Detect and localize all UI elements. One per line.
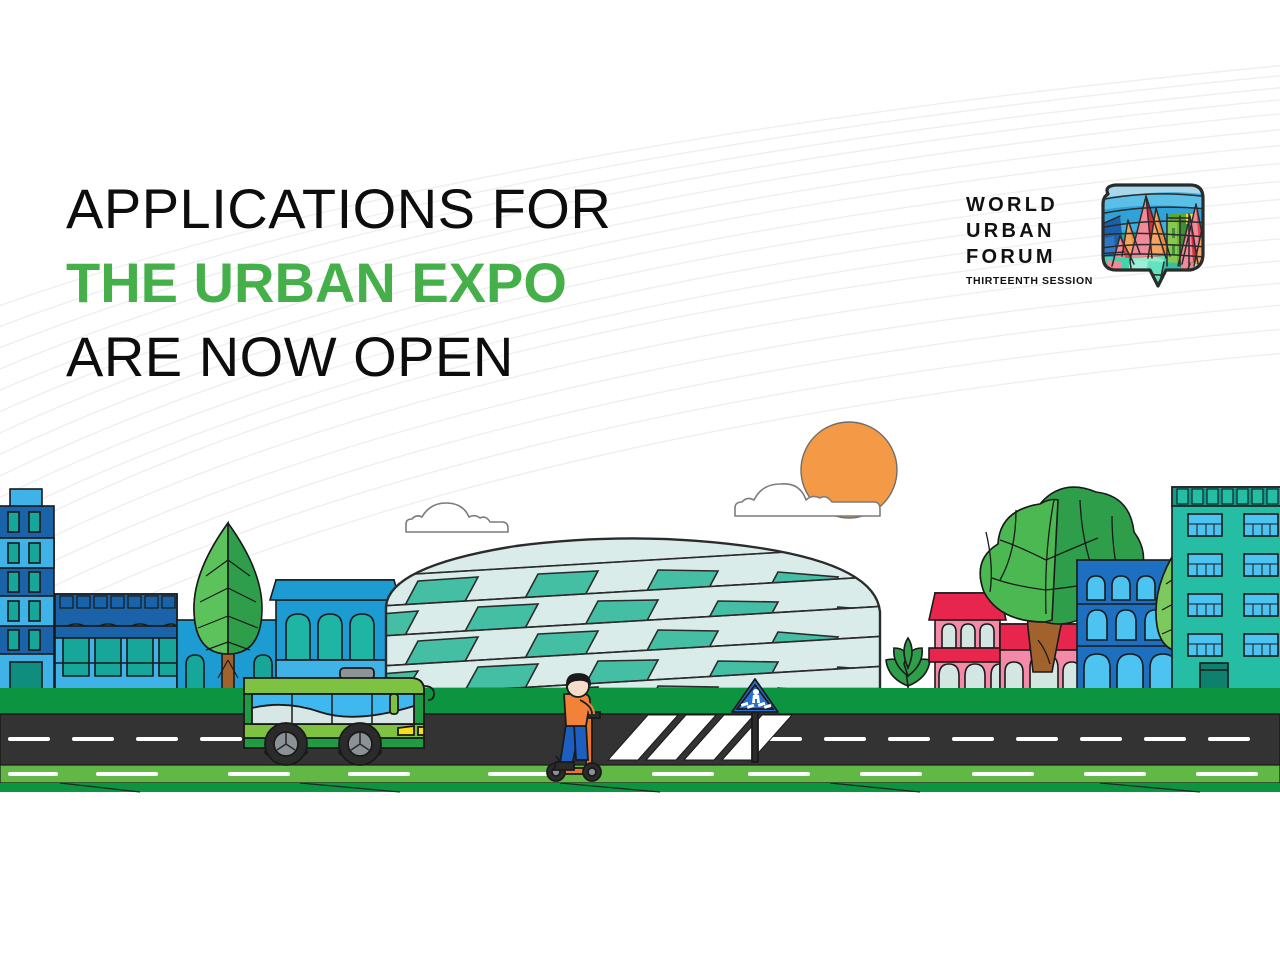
grass-strip-top (0, 688, 1280, 715)
logo-wordmark: WORLD URBAN FORUM THIRTEENTH SESSION (966, 180, 1078, 287)
logo-word-forum: FORUM (966, 244, 1078, 270)
poster-canvas: APPLICATIONS FOR THE URBAN EXPO ARE NOW … (0, 0, 1280, 960)
headline-block: APPLICATIONS FOR THE URBAN EXPO ARE NOW … (66, 172, 766, 394)
building-teal-tower (1172, 487, 1280, 689)
bush-right (886, 638, 930, 689)
expo-arena (380, 538, 888, 700)
building-arcade-blue (55, 594, 177, 689)
cloud-left (406, 503, 508, 532)
wuf-emblem-icon (1090, 180, 1216, 298)
building-blue-tower (0, 489, 54, 689)
city-illustration (0, 0, 1280, 960)
headline-line-1: APPLICATIONS FOR (66, 172, 766, 246)
logo-session-label: THIRTEENTH SESSION (966, 275, 1078, 287)
logo-word-world: WORLD (966, 192, 1078, 218)
building-pink-tall (929, 593, 1006, 689)
building-arcade-teal (270, 580, 400, 689)
world-urban-forum-logo[interactable]: WORLD URBAN FORUM THIRTEENTH SESSION (966, 180, 1226, 304)
logo-word-urban: URBAN (966, 218, 1078, 244)
headline-line-2-accent: THE URBAN EXPO (66, 246, 766, 320)
headline-line-3: ARE NOW OPEN (66, 320, 766, 394)
